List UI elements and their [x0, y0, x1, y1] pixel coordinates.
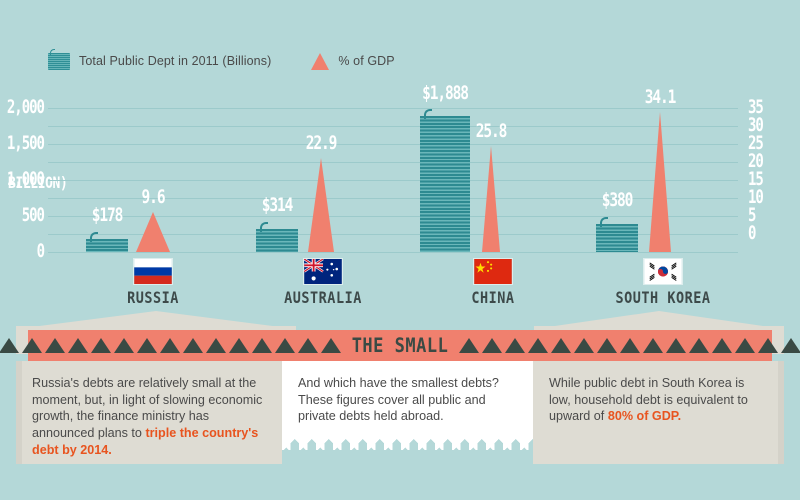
south-korea-flag	[643, 258, 683, 285]
group-south-korea: $380 34.1	[578, 108, 748, 252]
infographic-canvas: Total Public Dept in 2011 (Billions) % o…	[0, 0, 800, 500]
group-russia: $178 9.6	[68, 108, 238, 252]
group-china: $1,888 25.8	[408, 108, 578, 252]
country-south-korea: SOUTH KOREA	[578, 258, 748, 305]
chart-series-area: $178 9.6 $314 22.9 $1,888 25.8 $	[48, 108, 738, 252]
country-axis: RUSSIA AUSTRALIA	[48, 258, 738, 308]
note-highlight-south-korea: 80% of GDP.	[608, 409, 681, 423]
country-label-australia: AUSTRALIA	[238, 289, 408, 308]
note-box-south-korea: While public debt in South Korea is low,…	[533, 361, 784, 464]
legend-label-gdp: % of GDP	[338, 54, 394, 68]
triangle-russia[interactable]	[136, 212, 170, 252]
country-russia: RUSSIA	[68, 258, 238, 305]
legend-item-gdp: % of GDP	[311, 53, 394, 70]
bar-south-korea[interactable]	[596, 224, 638, 252]
legend-label-debt: Total Public Dept in 2011 (Billions)	[79, 54, 271, 68]
country-label-south-korea: SOUTH KOREA	[578, 289, 748, 308]
bar-china[interactable]	[420, 116, 470, 252]
ytick-left-4: 0	[0, 242, 44, 263]
bar-russia[interactable]	[86, 239, 128, 252]
note-box-smallest-debts: And which have the smallest debts? These…	[282, 361, 533, 437]
triangle-icon	[311, 53, 329, 70]
bar-value-south-korea: $380	[602, 190, 633, 211]
note-text-smallest-debts-plain: And which have the smallest debts? These…	[298, 376, 499, 423]
note-text-smallest-debts: And which have the smallest debts? These…	[298, 375, 517, 425]
country-label-china: CHINA	[408, 289, 578, 308]
russia-flag	[133, 258, 173, 285]
group-australia: $314 22.9	[238, 108, 408, 252]
ribbon-title: THE SMALL	[343, 334, 458, 357]
ytick-left-2: 1,000	[0, 170, 44, 191]
country-australia: AUSTRALIA	[238, 258, 408, 305]
gdp-value-china: 25.8	[476, 121, 507, 142]
triangle-australia[interactable]	[308, 158, 334, 252]
bar-value-russia: $178	[92, 205, 123, 226]
note-text-south-korea: While public debt in South Korea is low,…	[549, 375, 768, 425]
ytick-left-0: 2,000	[0, 98, 44, 119]
triangle-south-korea[interactable]	[649, 112, 671, 252]
bar-australia[interactable]	[256, 229, 298, 252]
striped-bar-icon	[48, 53, 70, 70]
australia-flag	[303, 258, 343, 285]
bar-value-china: $1,888	[422, 83, 468, 104]
gdp-value-australia: 22.9	[306, 133, 337, 154]
section-ribbon: THE SMALL	[28, 330, 772, 361]
triangle-china[interactable]	[482, 146, 500, 252]
debt-chart: BILLION) 2,000 1,500 1,000 500 0 35 30 2…	[0, 86, 800, 258]
chart-legend: Total Public Dept in 2011 (Billions) % o…	[48, 50, 435, 72]
gdp-value-russia: 9.6	[142, 187, 165, 208]
country-label-russia: RUSSIA	[68, 289, 238, 308]
bar-value-australia: $314	[262, 195, 293, 216]
note-box-russia: Russia's debts are relatively small at t…	[16, 361, 282, 464]
torn-edge	[282, 437, 533, 450]
note-text-russia: Russia's debts are relatively small at t…	[32, 375, 266, 459]
country-china: CHINA	[408, 258, 578, 305]
china-flag	[473, 258, 513, 285]
gdp-value-south-korea: 34.1	[645, 87, 676, 108]
ytick-left-1: 1,500	[0, 134, 44, 155]
legend-item-debt: Total Public Dept in 2011 (Billions)	[48, 53, 271, 70]
ribbon-triangles-right	[457, 338, 800, 353]
ytick-left-3: 500	[0, 206, 44, 227]
ribbon-triangles-left	[0, 338, 343, 353]
ytick-right-7: 0	[748, 224, 774, 245]
